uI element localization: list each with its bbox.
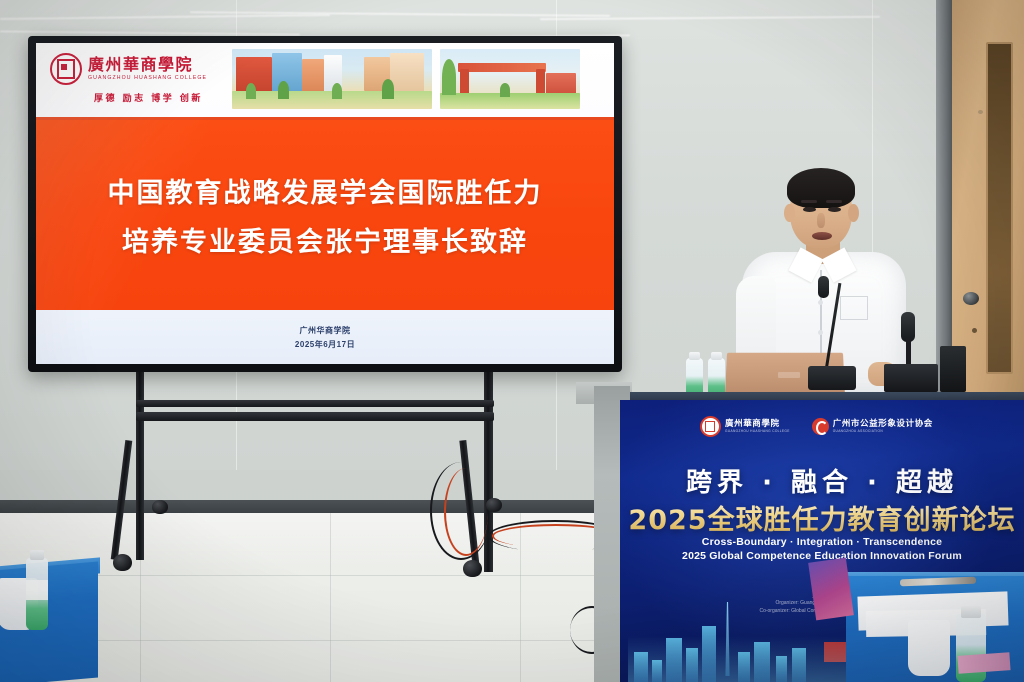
campus-photo-strip (232, 49, 580, 109)
university-name-cn: 廣州華商學院 (88, 57, 207, 73)
bottle-cap (961, 606, 981, 618)
slide-title-block: 中国教育战略发展学会国际胜任力 培养专业委员会张宁理事长致辞 (36, 120, 614, 310)
slide-title-line-2: 培养专业委员会张宁理事长致辞 (122, 220, 528, 259)
stand-caster-wheel (113, 554, 132, 571)
speaker-eyebrow (801, 200, 817, 203)
purple-folder (808, 558, 854, 621)
microphone-base (808, 366, 856, 390)
university-logo: 廣州華商學院 GUANGZHOU HUASHANG COLLEGE (50, 53, 207, 85)
university-name-en: GUANGZHOU HUASHANG COLLEGE (88, 76, 207, 81)
slide-footer-org: 广州华商学院 (300, 325, 351, 336)
banner-subhead-cn: 2025全球胜任力教育创新论坛 (620, 498, 1024, 537)
shirt-button (818, 300, 823, 305)
university-seal-icon (50, 53, 82, 85)
gooseneck-microphone (818, 276, 829, 298)
university-motto: 厚德 励志 博学 创新 (94, 91, 203, 104)
banner-logo2-name-cn: 广州市公益形象设计协会 (833, 420, 933, 429)
speaker-nose (817, 213, 825, 228)
door-screw (972, 328, 977, 333)
speaker-ear (784, 204, 795, 222)
bottle-cap (689, 352, 700, 360)
banner-logo-university: 廣州華商學院 GUANGZHOU HUASHANG COLLEGE (700, 416, 790, 437)
speaker-ear (848, 204, 859, 222)
stand-caster-wheel (152, 500, 168, 514)
door-knob-icon[interactable] (963, 292, 979, 305)
speaker-eye (828, 207, 841, 212)
banner-headline-en: Cross-Boundary · Integration · Transcend… (620, 536, 1024, 548)
photo-scene: 廣州華商學院 GUANGZHOU HUASHANG COLLEGE 厚德 励志 … (0, 0, 1024, 682)
speaker-eyebrow (826, 200, 842, 203)
speaker-hair (787, 168, 855, 208)
name-card (957, 652, 1010, 674)
slide-footer: 广州华商学院 2025年6月17日 (36, 310, 614, 364)
bottle-label (26, 580, 48, 600)
laptop-logo (778, 372, 800, 378)
banner-logo-row: 廣州華商學院 GUANGZHOU HUASHANG COLLEGE 广州市公益形… (700, 416, 933, 437)
shirt-button (818, 330, 823, 335)
banner-headline-cn: 跨界 · 融合 · 超越 (620, 462, 1024, 499)
stand-crossbar (136, 400, 494, 407)
speaker-mouth (812, 232, 832, 240)
power-cable-red (444, 468, 488, 556)
stand-crossbar (136, 412, 494, 421)
university-seal-icon (700, 416, 721, 437)
door-hinge (978, 110, 983, 114)
association-c-icon (812, 418, 829, 435)
banner-logo-name-en: GUANGZHOU HUASHANG COLLEGE (725, 430, 790, 433)
bottle-cap (711, 352, 722, 360)
banner-logo-association: 广州市公益形象设计协会 GUANGZHOU ASSOCIATION (812, 418, 933, 435)
stand-caster-wheel (463, 560, 482, 577)
slide-header: 廣州華商學院 GUANGZHOU HUASHANG COLLEGE 厚德 励志 … (36, 43, 614, 117)
campus-buildings-illustration (232, 49, 432, 109)
slide-footer-date: 2025年6月17日 (295, 339, 355, 350)
display-screen: 廣州華商學院 GUANGZHOU HUASHANG COLLEGE 厚德 励志 … (36, 43, 614, 364)
floor-tile-line (330, 513, 331, 682)
av-equipment (884, 364, 938, 392)
slide-title-line-1: 中国教育战略发展学会国际胜任力 (108, 171, 543, 210)
speaker-shirt-pocket (840, 296, 868, 320)
wall-baseboard (0, 500, 640, 513)
paper-cup (908, 620, 950, 676)
door-glass-panel (986, 42, 1013, 374)
banner-logo-name-cn: 廣州華商學院 (725, 420, 790, 429)
speaker-eye (803, 207, 816, 212)
campus-gate-illustration (440, 49, 580, 109)
banner-logo2-name-en: GUANGZHOU ASSOCIATION (833, 430, 933, 433)
av-equipment (940, 346, 966, 392)
bottle-cap (30, 550, 44, 560)
